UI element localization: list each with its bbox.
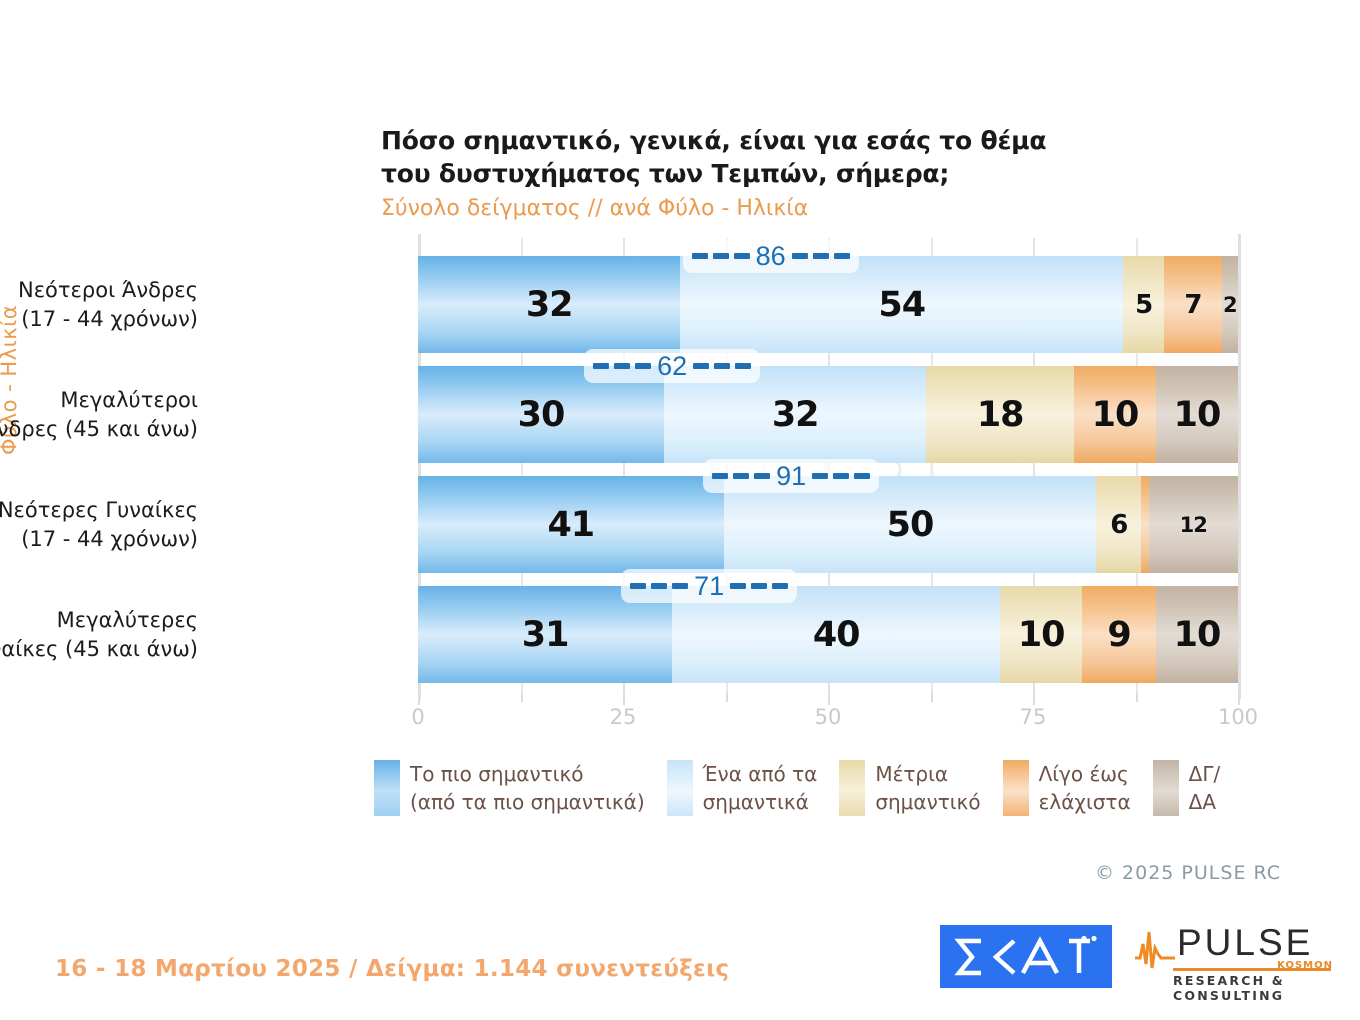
sum-badge: 71 [621,569,797,603]
bar-segment[interactable]: 10 [1156,586,1238,683]
badge-dash [630,583,646,589]
x-axis-tick [931,693,933,702]
x-axis: 0255075100 [418,693,1238,733]
x-axis-tick [726,693,728,702]
badge-dashes [693,363,751,369]
legend-item[interactable]: Ένα από τα σημαντικά [667,760,818,816]
category-label-line1: Νεότερες Γυναίκες [0,496,198,525]
pulse-waveform-icon [1135,924,1175,976]
badge-dashes [593,363,651,369]
badge-dash [833,473,849,479]
bar-segment[interactable]: 2 [1222,256,1238,353]
category-label-line2: Γυναίκες (45 και άνω) [0,635,198,664]
badge-value: 71 [694,573,724,600]
legend-label: Το πιο σημαντικό (από τα πιο σημαντικά) [410,760,645,816]
legend-label: ΔΓ/ ΔΑ [1189,760,1221,816]
page-title-line1: Πόσο σημαντικό, γενικά, είναι για εσάς τ… [381,124,1081,157]
legend-swatch [1003,760,1029,816]
legend-swatch [667,760,693,816]
bar-segment-value: 12 [1180,513,1207,537]
badge-dash [651,583,667,589]
bar-segment-value: 32 [526,285,573,325]
category-label-line2: Άνδρες (45 και άνω) [0,415,198,444]
legend-swatch [374,760,400,816]
bar-segment-value: 10 [1174,395,1221,435]
page-title-line2: του δυστυχήματος των Τεμπών, σήμερα; [381,157,1081,190]
chart-legend: Το πιο σημαντικό (από τα πιο σημαντικά)Έ… [374,760,1242,816]
legend-item[interactable]: Το πιο σημαντικό (από τα πιο σημαντικά) [374,760,645,816]
x-axis-tick [1136,693,1138,702]
bar-segment-value: 2 [1223,293,1237,317]
badge-dash [692,253,708,259]
bar-segment[interactable]: 32 [418,256,680,353]
category-label-line1: Μεγαλύτερες [0,606,198,635]
x-axis-label: 25 [610,705,637,729]
badge-dashes [792,253,850,259]
x-axis-label: 75 [1020,705,1047,729]
bar-row: 314010910 [418,586,1238,683]
bar-segment[interactable]: 9 [1082,586,1156,683]
x-axis-label: 0 [411,705,424,729]
bar-segment[interactable]: 41 [418,476,724,573]
bar-segment[interactable] [1141,476,1148,573]
legend-swatch [839,760,865,816]
bar-segment-value: 18 [977,395,1024,435]
x-axis-tick [1033,693,1035,705]
skai-logo-glyph [951,936,1101,978]
legend-item[interactable]: Μέτρια σημαντικό [839,760,980,816]
category-label: ΜεγαλύτεροιΆνδρες (45 και άνω) [0,386,198,444]
legend-label: Μέτρια σημαντικό [875,760,980,816]
bar-segment[interactable]: 10 [1074,366,1156,463]
legend-label: Ένα από τα σημαντικά [703,760,818,816]
badge-dash [635,363,651,369]
bar-segment-value: 30 [518,395,565,435]
x-axis-tick [623,693,625,705]
badge-value: 62 [657,353,687,380]
badge-dashes [730,583,788,589]
badge-dash [812,473,828,479]
bar-segment[interactable]: 7 [1164,256,1221,353]
badge-dashes [630,583,688,589]
badge-dash [730,583,746,589]
badge-dashes [712,473,770,479]
x-axis-tick [521,693,523,702]
bar-segment-value: 6 [1110,510,1127,540]
stacked-bar-rows: 3254572863032181010624150612913140109107… [418,238,1238,693]
badge-dash [712,473,728,479]
bar-segment[interactable]: 10 [1000,586,1082,683]
skai-logo [940,925,1112,988]
bar-segment-value: 50 [887,505,934,545]
x-axis-label: 100 [1218,705,1258,729]
title-block: Πόσο σημαντικό, γενικά, είναι για εσάς τ… [381,124,1081,223]
x-axis-tick [418,693,420,705]
bar-segment-value: 41 [547,505,594,545]
category-label-line2: (17 - 44 χρόνων) [0,525,198,554]
x-axis-label: 50 [815,705,842,729]
chart-plot-area: PULSE RESEARCH & CONSULTING 325457286303… [418,238,1238,693]
bar-segment-value: 31 [522,615,569,655]
poll-chart-slide: Πόσο σημαντικό, γενικά, είναι για εσάς τ… [0,0,1360,1020]
category-label: Νεότεροι Άνδρες(17 - 44 χρόνων) [0,276,198,334]
copyright-text: © 2025 PULSE RC [1095,862,1281,884]
badge-dash [614,363,630,369]
badge-dash [693,363,709,369]
pulse-tagline: RESEARCH & CONSULTING [1173,973,1335,1003]
badge-dash [754,473,770,479]
badge-dash [733,473,749,479]
pulse-divider [1173,968,1331,971]
badge-dash [792,253,808,259]
badge-dash [813,253,829,259]
sum-badge: 86 [683,239,859,273]
bar-segment[interactable]: 6 [1096,476,1141,573]
badge-dash [854,473,870,479]
category-label-line1: Νεότεροι Άνδρες [0,276,198,305]
x-axis-tick [828,693,830,705]
badge-value: 86 [756,243,786,270]
fieldwork-note: 16 - 18 Μαρτίου 2025 / Δείγμα: 1.144 συν… [55,956,729,982]
bar-segment-value: 54 [878,285,925,325]
bar-segment-value: 32 [772,395,819,435]
bar-segment[interactable]: 12 [1149,476,1238,573]
badge-dash [834,253,850,259]
badge-dash [751,583,767,589]
bar-segment-value: 9 [1107,615,1130,655]
badge-dash [713,253,729,259]
bar-segment-value: 5 [1135,290,1152,320]
category-label-line1: Μεγαλύτεροι [0,386,198,415]
category-label-line2: (17 - 44 χρόνων) [0,305,198,334]
bar-segment-value: 10 [1018,615,1065,655]
pulse-wordmark: PULSE [1177,922,1313,964]
badge-dash [772,583,788,589]
badge-dashes [692,253,750,259]
sum-badge: 62 [584,349,760,383]
badge-dash [714,363,730,369]
legend-item[interactable]: ΔΓ/ ΔΑ [1153,760,1221,816]
bar-segment[interactable]: 18 [926,366,1074,463]
legend-label: Λίγο έως ελάχιστα [1039,760,1131,816]
bar-segment-value: 40 [813,615,860,655]
badge-dash [734,253,750,259]
page-subtitle: Σύνολο δείγματος // ανά Φύλο - Ηλικία [381,195,1081,223]
bar-segment-value: 10 [1092,395,1139,435]
legend-item[interactable]: Λίγο έως ελάχιστα [1003,760,1131,816]
badge-dash [593,363,609,369]
badge-dash [672,583,688,589]
legend-swatch [1153,760,1179,816]
badge-value: 91 [776,463,806,490]
bar-segment-value: 7 [1184,290,1201,320]
x-axis-tick [1238,693,1240,705]
badge-dash [735,363,751,369]
sum-badge: 91 [703,459,879,493]
axis-edge-line [1238,234,1241,699]
category-label: ΜεγαλύτερεςΓυναίκες (45 και άνω) [0,606,198,664]
category-label: Νεότερες Γυναίκες(17 - 44 χρόνων) [0,496,198,554]
badge-dashes [812,473,870,479]
bar-segment[interactable]: 5 [1123,256,1164,353]
bar-segment-value: 10 [1174,615,1221,655]
bar-row: 3032181010 [418,366,1238,463]
pulse-logo: PULSE KOSMON RESEARCH & CONSULTING [1135,920,1335,992]
bar-segment[interactable]: 10 [1156,366,1238,463]
